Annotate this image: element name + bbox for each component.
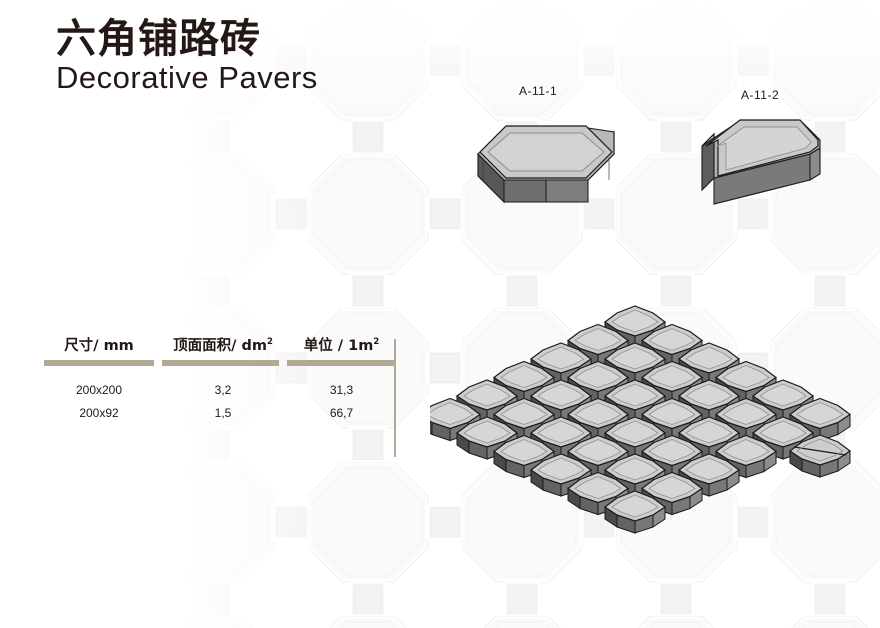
paver-render-a-11-2	[692, 100, 832, 215]
poster-page: 六角铺路砖 Decorative Pavers A-11-1 A-11-2	[0, 0, 880, 628]
cell-top-area: 3,2	[158, 383, 288, 397]
paver-array-render	[430, 290, 880, 590]
paver-render-a-11-1	[466, 96, 626, 226]
product-label-a-11-2: A-11-2	[741, 88, 779, 102]
cell-units: 66,7	[288, 406, 395, 420]
accent-bar-col-3	[287, 360, 395, 366]
product-label-a-11-1: A-11-1	[519, 84, 557, 98]
cell-top-area: 1,5	[158, 406, 288, 420]
cell-size: 200x200	[40, 383, 158, 397]
column-header-units-per-m2: 单位 / 1m2	[288, 334, 395, 355]
page-title-block: 六角铺路砖 Decorative Pavers	[56, 18, 318, 95]
accent-bar-col-2	[162, 360, 280, 366]
spec-table-row: 200x92 1,5 66,7	[40, 406, 395, 420]
cell-units: 31,3	[288, 383, 395, 397]
cell-size: 200x92	[40, 406, 158, 420]
accent-bar-col-1	[44, 360, 154, 366]
spec-table-accent-bars	[40, 360, 395, 366]
spec-table-row: 200x200 3,2 31,3	[40, 383, 395, 397]
table-vertical-divider	[394, 339, 396, 457]
column-header-top-area: 顶面面积/ dm2	[158, 334, 288, 355]
column-header-size: 尺寸/ mm	[40, 334, 158, 355]
page-title-cn: 六角铺路砖	[56, 18, 318, 60]
spec-table: 尺寸/ mm 顶面面积/ dm2 单位 / 1m2 200x200 3,2 31…	[40, 334, 395, 420]
spec-table-header-row: 尺寸/ mm 顶面面积/ dm2 单位 / 1m2	[40, 334, 395, 355]
page-title-en: Decorative Pavers	[56, 62, 318, 95]
